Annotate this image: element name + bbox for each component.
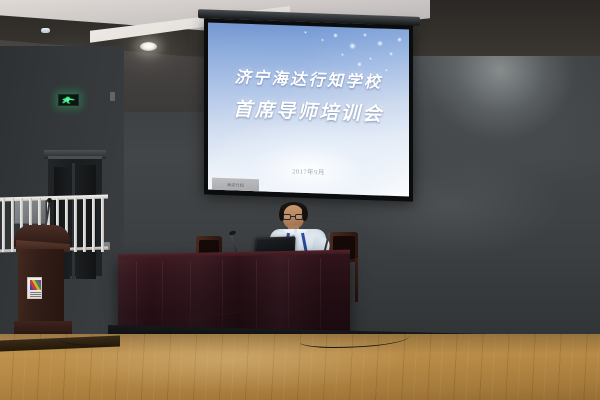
slide-corner-badge-label: 海达行知	[227, 182, 244, 189]
lectern-body	[18, 249, 64, 323]
chair-leg	[355, 258, 358, 302]
slide-corner-badge: 海达行知	[212, 178, 259, 194]
slide-date: 2017年9月	[208, 162, 409, 179]
railing-baluster	[2, 198, 5, 252]
projected-slide: 济宁海达行知学校 首席导师培训会 2017年9月 海达行知	[208, 22, 409, 196]
glasses-lens-left	[283, 214, 291, 220]
running-man-icon	[61, 96, 76, 104]
emblem-text-lines	[30, 292, 41, 298]
railing-baluster	[83, 198, 86, 252]
glasses-icon	[283, 214, 304, 220]
wall-switch[interactable]	[110, 92, 115, 101]
railing-baluster	[92, 198, 95, 252]
railing-baluster	[101, 198, 104, 252]
photo-scene: 济宁海达行知学校 首席导师培训会 2017年9月 海达行知	[0, 0, 600, 400]
emblem-graphic-icon	[30, 280, 41, 290]
slide-title-line-2: 首席导师培训会	[208, 93, 409, 127]
projection-screen: 济宁海达行知学校 首席导师培训会 2017年9月 海达行知	[204, 18, 413, 201]
podium-microphone-head	[47, 198, 52, 203]
exit-sign	[58, 94, 79, 106]
recessed-downlight-2	[140, 42, 157, 51]
glasses-lens-right	[295, 214, 303, 220]
school-emblem	[27, 277, 42, 299]
railing-baluster	[74, 198, 77, 252]
lectern	[14, 225, 70, 337]
computer-mouse[interactable]	[41, 28, 50, 33]
